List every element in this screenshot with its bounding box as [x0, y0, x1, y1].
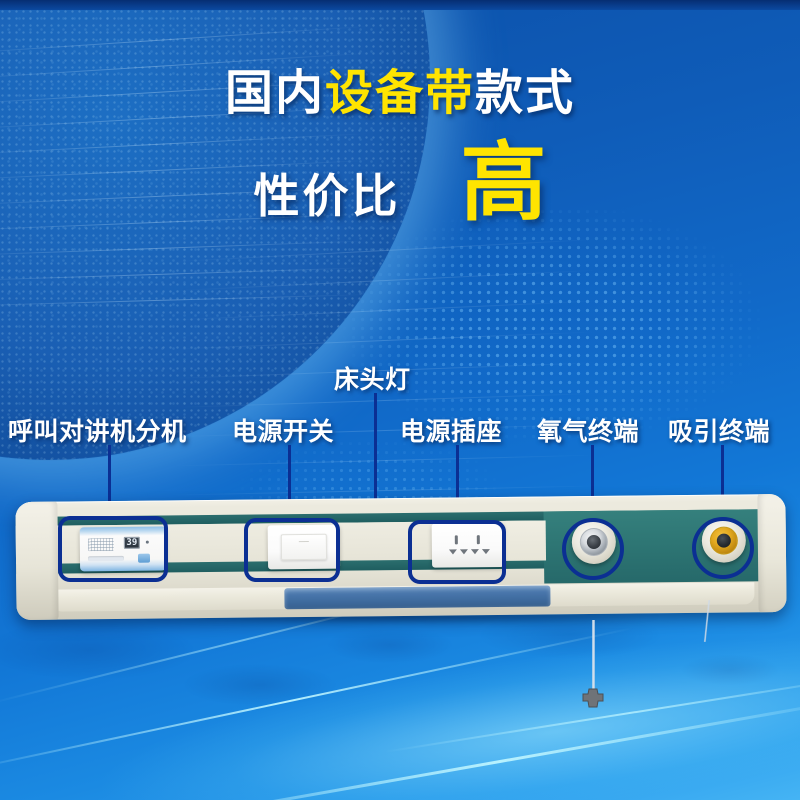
- callout-label-bed-lamp: 床头灯: [334, 360, 411, 396]
- callout-label-intercom: 呼叫对讲机分机: [8, 412, 187, 448]
- callout-label-oxygen: 氧气终端: [537, 412, 639, 448]
- socket-pin-slot: [455, 535, 458, 544]
- panel-end-cap-right: [757, 494, 786, 614]
- power-socket-plate[interactable]: [432, 523, 504, 568]
- intercom-display: 39: [124, 537, 140, 549]
- suction-terminal-core: [710, 526, 738, 554]
- socket-prong-icon: [471, 549, 479, 554]
- call-cord[interactable]: [592, 620, 595, 690]
- callout-label-suction: 吸引终端: [668, 412, 770, 448]
- socket-pin-slot: [477, 535, 480, 544]
- speaker-grille-icon: [88, 538, 114, 551]
- intercom-slot: [88, 556, 124, 561]
- intercom-call-button[interactable]: [138, 554, 150, 563]
- bed-head-unit-panel: 39: [16, 498, 786, 633]
- panel-white-gap: [506, 520, 546, 560]
- socket-prong-icon: [460, 549, 468, 554]
- oxygen-terminal-port-hole: [587, 535, 601, 549]
- power-switch-plate[interactable]: [268, 525, 340, 570]
- callout-layer: 呼叫对讲机分机电源开关床头灯电源插座氧气终端吸引终端: [0, 0, 800, 800]
- panel-body: 39: [15, 494, 786, 620]
- nurse-call-intercom-unit[interactable]: 39: [80, 526, 166, 571]
- product-banner: 国内设备带款式 性价比 高 呼叫对讲机分机电源开关床头灯电源插座氧气终端吸引终端…: [0, 0, 800, 800]
- status-led-icon: [146, 541, 149, 544]
- socket-prong-icon: [449, 549, 457, 554]
- switch-mark: [299, 541, 309, 542]
- oxygen-terminal[interactable]: [572, 520, 616, 564]
- cross-connector-icon: [578, 681, 608, 711]
- callout-label-socket: 电源插座: [400, 412, 502, 448]
- callout-label-switch: 电源开关: [232, 412, 334, 448]
- socket-outlets: [446, 533, 490, 557]
- panel-end-cap-left: [15, 500, 58, 620]
- bed-lamp-diffuser: [284, 585, 550, 609]
- oxygen-terminal-core: [580, 528, 608, 556]
- rocker-switch[interactable]: [281, 534, 327, 560]
- suction-terminal[interactable]: [702, 518, 746, 562]
- suction-terminal-port-hole: [717, 534, 731, 548]
- socket-prong-icon: [482, 549, 490, 554]
